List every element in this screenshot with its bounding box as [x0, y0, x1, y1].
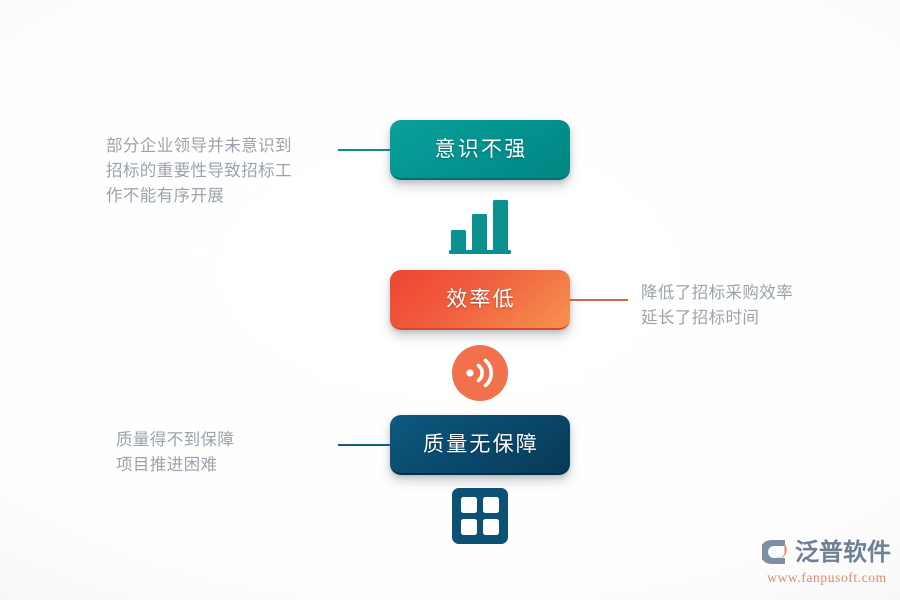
- connector-line-awareness: [338, 149, 392, 151]
- bar-chart-icon: [390, 198, 570, 254]
- brand-logo-row: 泛普软件: [762, 536, 892, 568]
- brand-name: 泛普软件: [795, 540, 891, 564]
- connector-line-efficiency: [568, 299, 628, 301]
- brand-logo: 泛普软件 www.fanpusoft.com: [762, 536, 892, 588]
- infographic-canvas: 部分企业领导并未意识到 招标的重要性导致招标工 作不能有序开展 降低了招标采购效…: [0, 0, 900, 600]
- box-efficiency-label: 效率低: [444, 289, 516, 310]
- box-quality-label: 质量无保障: [421, 434, 539, 455]
- annotation-quality: 质量得不到保障 项目推进困难: [116, 428, 356, 478]
- fanpu-swirl-logo-icon: [762, 537, 792, 567]
- box-awareness[interactable]: 意识不强: [390, 120, 570, 180]
- box-efficiency[interactable]: 效率低: [390, 270, 570, 330]
- central-stack: 意识不强 效率低 质量无保障: [390, 0, 570, 600]
- box-awareness-label: 意识不强: [433, 139, 528, 160]
- grid-squares-icon: [390, 487, 570, 545]
- box-quality[interactable]: 质量无保障: [390, 415, 570, 475]
- signal-wave-icon: [390, 344, 570, 402]
- brand-url: www.fanpusoft.com: [762, 570, 892, 586]
- annotation-awareness: 部分企业领导并未意识到 招标的重要性导致招标工 作不能有序开展: [106, 134, 346, 209]
- annotation-efficiency: 降低了招标采购效率 延长了招标时间: [641, 281, 881, 331]
